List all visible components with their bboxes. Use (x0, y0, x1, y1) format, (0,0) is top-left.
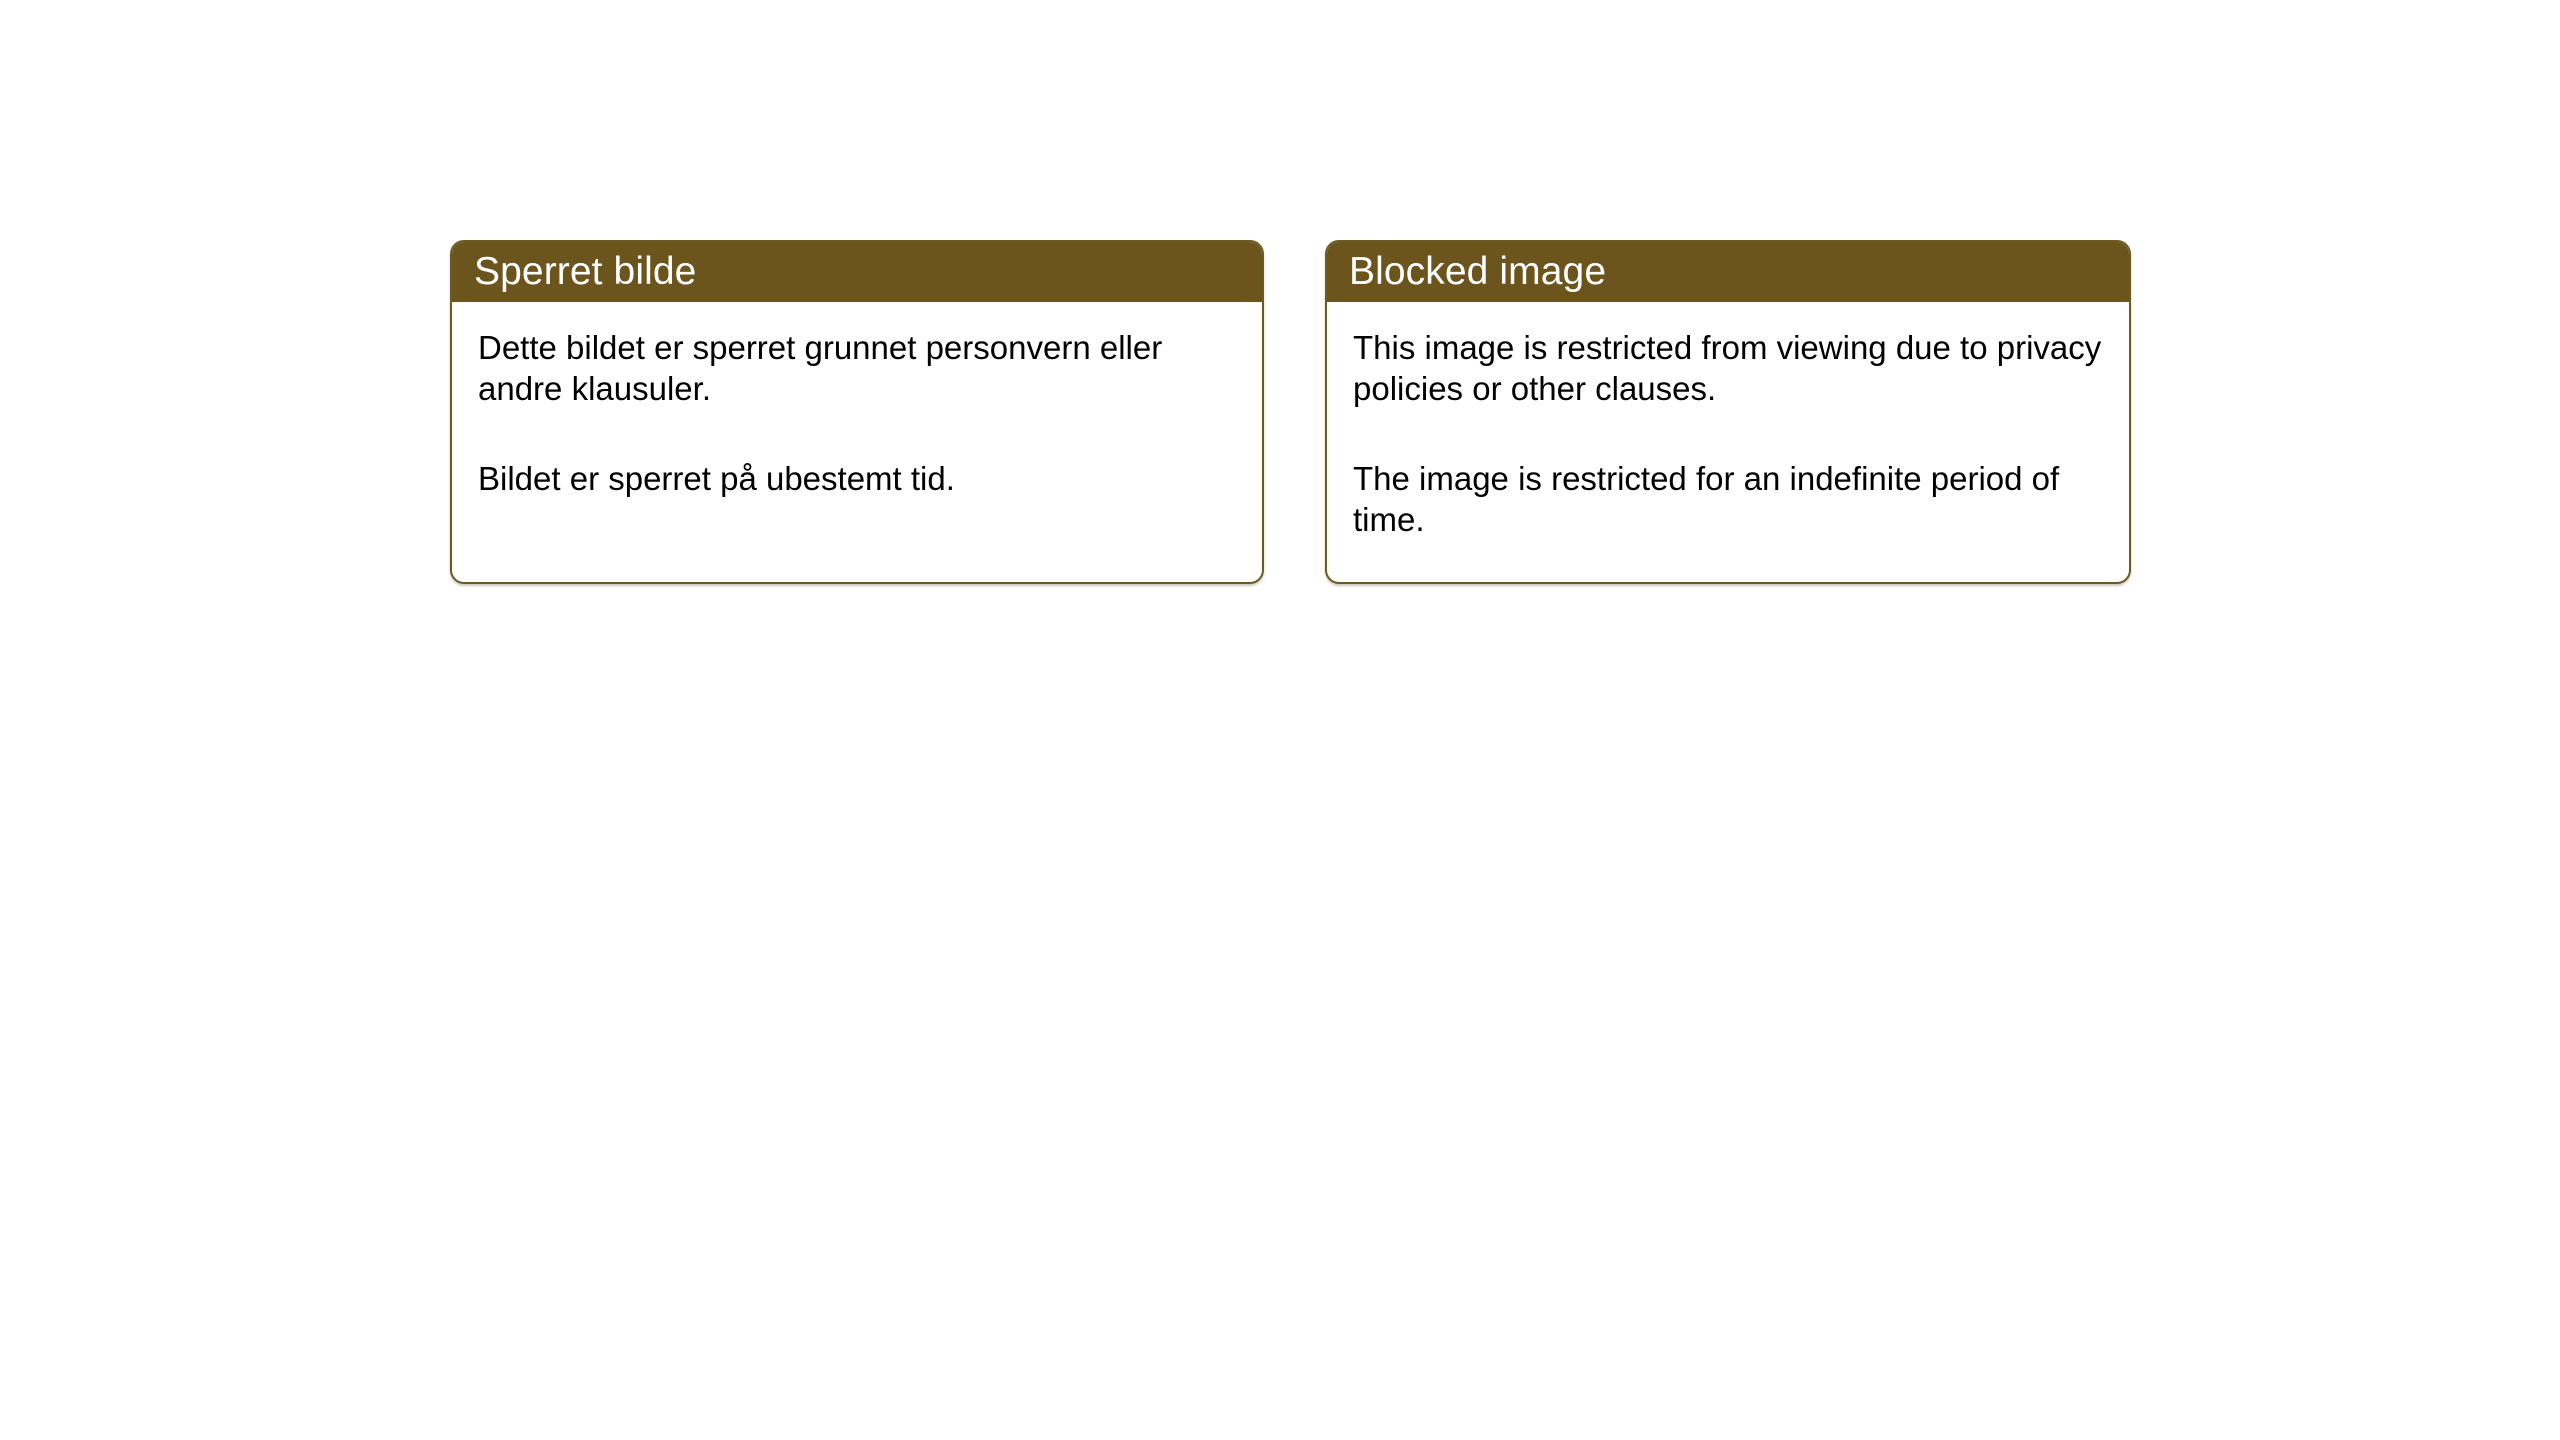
blocked-image-notice-card-norwegian: Sperret bilde Dette bildet er sperret gr… (450, 240, 1264, 584)
card-paragraph-reason-norwegian: Dette bildet er sperret grunnet personve… (478, 328, 1236, 410)
blocked-image-notice-card-english: Blocked image This image is restricted f… (1325, 240, 2131, 584)
card-title-english: Blocked image (1349, 252, 1606, 291)
card-title-norwegian: Sperret bilde (474, 252, 696, 291)
card-body-norwegian: Dette bildet er sperret grunnet personve… (452, 302, 1262, 500)
card-header-norwegian: Sperret bilde (450, 240, 1264, 302)
card-paragraph-duration-norwegian: Bildet er sperret på ubestemt tid. (478, 459, 1236, 500)
card-body-english: This image is restricted from viewing du… (1327, 302, 2129, 541)
page-canvas: Sperret bilde Dette bildet er sperret gr… (0, 0, 2560, 1440)
card-header-english: Blocked image (1325, 240, 2131, 302)
card-paragraph-reason-english: This image is restricted from viewing du… (1353, 328, 2103, 410)
card-paragraph-duration-english: The image is restricted for an indefinit… (1353, 459, 2103, 541)
